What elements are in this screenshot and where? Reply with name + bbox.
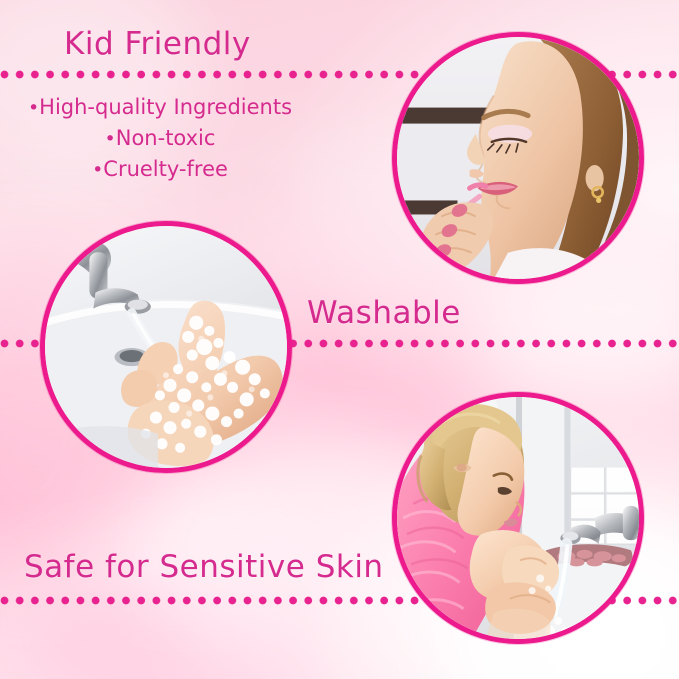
photo-lipgloss-image xyxy=(397,37,639,279)
bullet-marker-icon: • xyxy=(92,159,103,181)
photo-lipgloss xyxy=(392,32,644,284)
photo-girl-sink xyxy=(392,392,644,644)
list-item-label: Non-toxic xyxy=(116,126,216,150)
bullet-marker-icon: • xyxy=(105,128,116,150)
photo-handwash-image xyxy=(45,226,287,468)
photo-handwash xyxy=(40,221,292,473)
infographic-canvas: Kid Friendly Washable Safe for Sensitive… xyxy=(0,0,679,679)
list-item: •Cruelty-free xyxy=(0,154,320,185)
bullet-marker-icon: • xyxy=(28,97,39,119)
list-item-label: Cruelty-free xyxy=(103,157,228,181)
list-item: •Non-toxic xyxy=(0,123,320,154)
heading-kid-friendly: Kid Friendly xyxy=(64,26,251,62)
list-item: •High-quality Ingredients xyxy=(0,92,320,123)
heading-safe-for-sensitive-skin: Safe for Sensitive Skin xyxy=(24,549,384,585)
heading-washable: Washable xyxy=(307,295,461,331)
feature-bullet-list: •High-quality Ingredients •Non-toxic •Cr… xyxy=(0,92,320,185)
photo-girl-sink-image xyxy=(397,397,639,639)
list-item-label: High-quality Ingredients xyxy=(39,95,292,119)
